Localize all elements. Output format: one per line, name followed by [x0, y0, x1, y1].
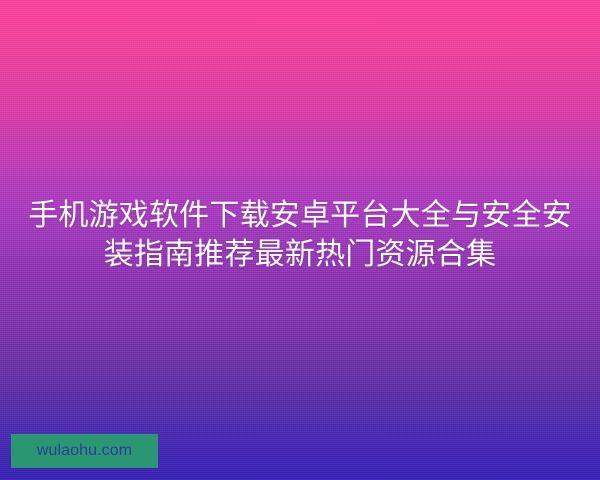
site-watermark-label: wulaohu.com: [37, 443, 132, 459]
promo-banner: 手机游戏软件下载安卓平台大全与安全安装指南推荐最新热门资源合集 wulaohu.…: [0, 0, 600, 480]
page-title: 手机游戏软件下载安卓平台大全与安全安装指南推荐最新热门资源合集: [0, 196, 600, 274]
site-watermark-badge: wulaohu.com: [11, 434, 158, 468]
